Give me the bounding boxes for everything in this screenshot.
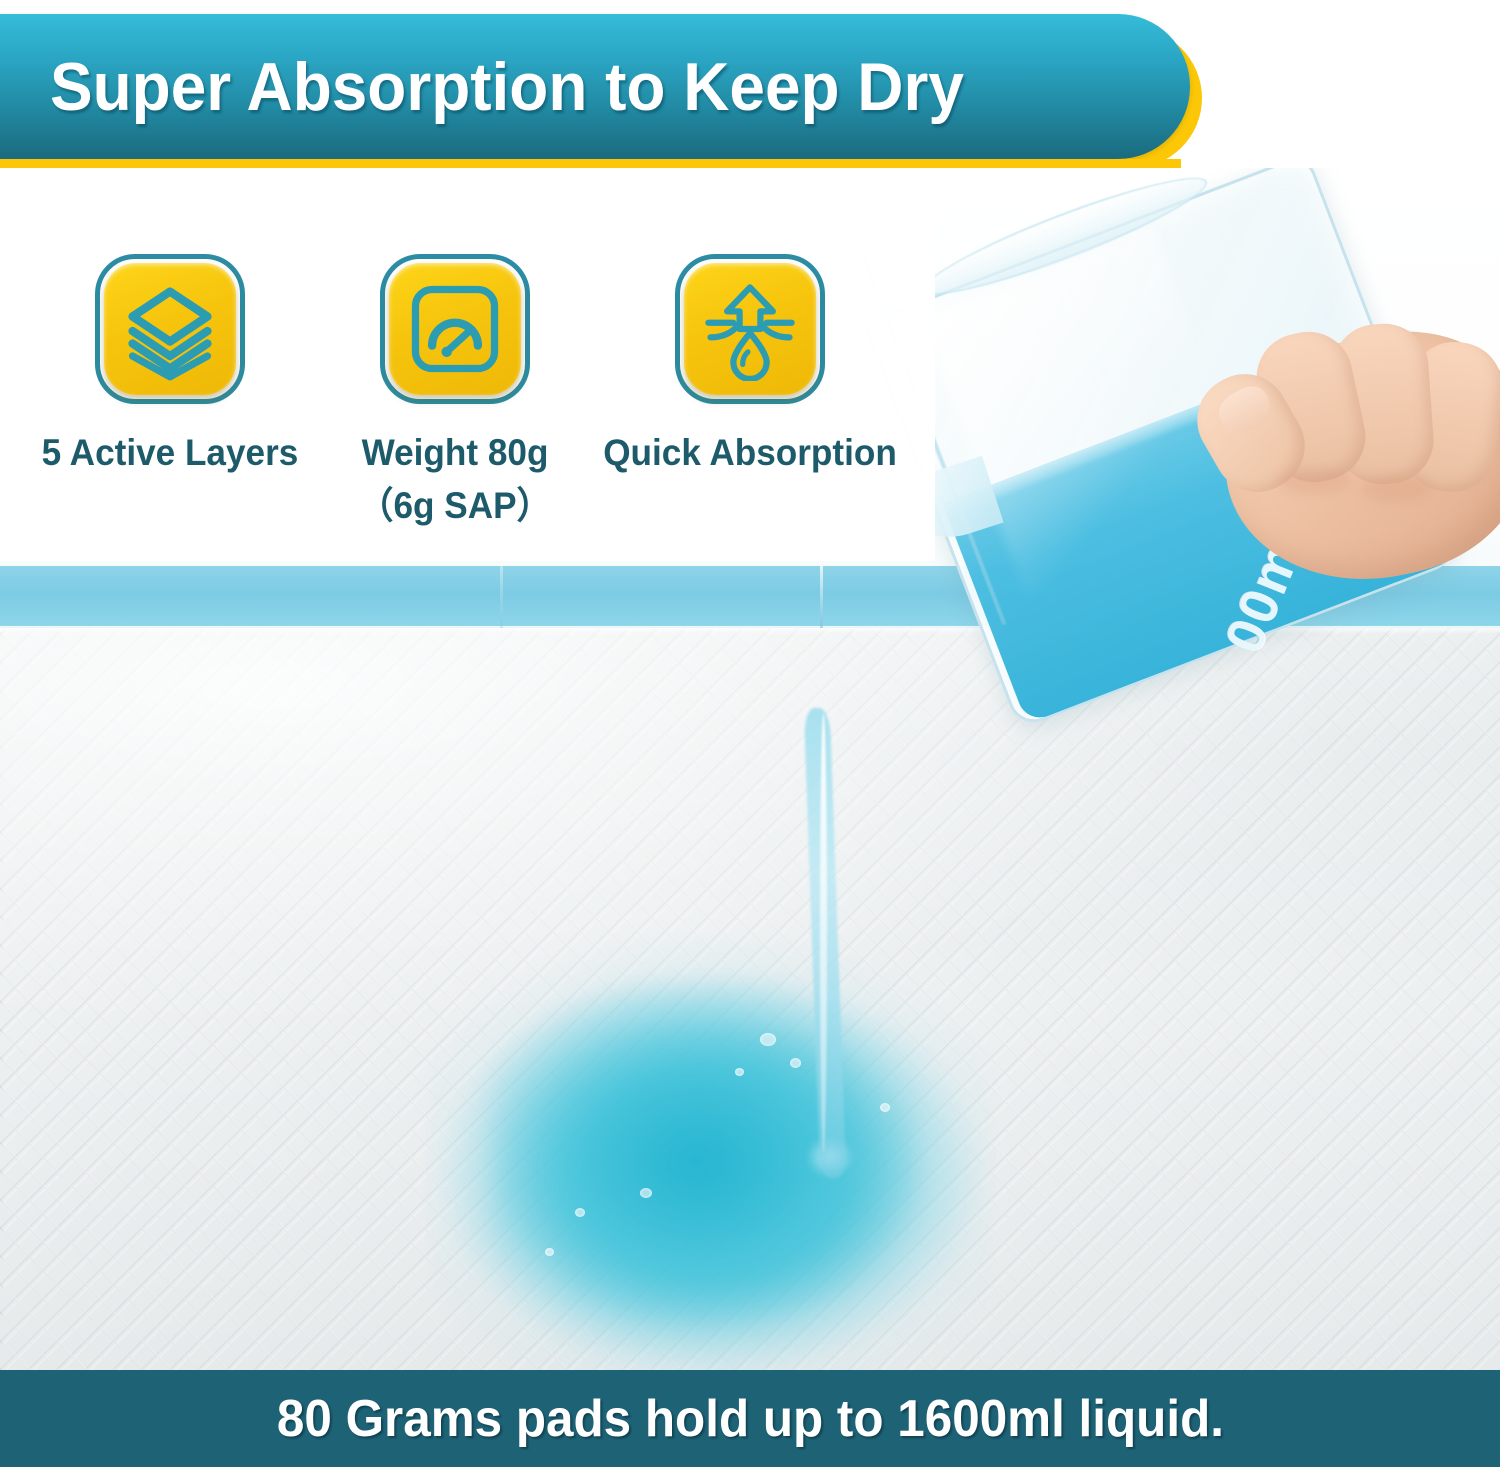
page-title: Super Absorption to Keep Dry [50,48,964,126]
feature-info-panel: 5 Active Layers Weight 80g [0,176,935,561]
product-feature-image: 00ml Super Absorption to Keep Dry [0,0,1500,1467]
icon-glyph [684,263,816,395]
pad-strip-crease [820,566,823,628]
feature-sublabel: （6g SAP） [327,475,584,529]
feature-label: 5 Active Layers [28,430,313,475]
bubble [760,1033,776,1046]
feature-label: Weight 80g [327,430,584,475]
quick-absorption-icon [675,254,825,404]
feature-weight: Weight 80g （6g SAP） [320,176,590,529]
feature-quick-absorption: Quick Absorption [590,176,910,529]
footer-text: 80 Grams pads hold up to 1600ml liquid. [276,1389,1223,1449]
footer-banner: 80 Grams pads hold up to 1600ml liquid. [0,1370,1500,1467]
bubble [880,1103,890,1112]
header-banner: Super Absorption to Keep Dry [0,14,1190,159]
feature-row: 5 Active Layers Weight 80g [0,176,935,529]
bubble [640,1188,652,1198]
bubble [735,1068,744,1076]
icon-glyph [104,263,236,395]
pour-stream-highlight [820,713,827,1153]
bubble [545,1248,554,1256]
weight-gauge-icon [380,254,530,404]
feature-five-active-layers: 5 Active Layers [20,176,320,529]
bubble [575,1208,585,1217]
knuckle-shadow [1360,476,1430,502]
icon-glyph [389,263,521,395]
feature-label: Quick Absorption [598,430,902,475]
hand-holding-cup [1185,318,1500,608]
pad-strip-crease [500,566,503,628]
knuckle-shadow [1280,468,1350,494]
layers-stack-icon [95,254,245,404]
header-gold-strip [0,159,1181,168]
bubble [790,1058,801,1068]
